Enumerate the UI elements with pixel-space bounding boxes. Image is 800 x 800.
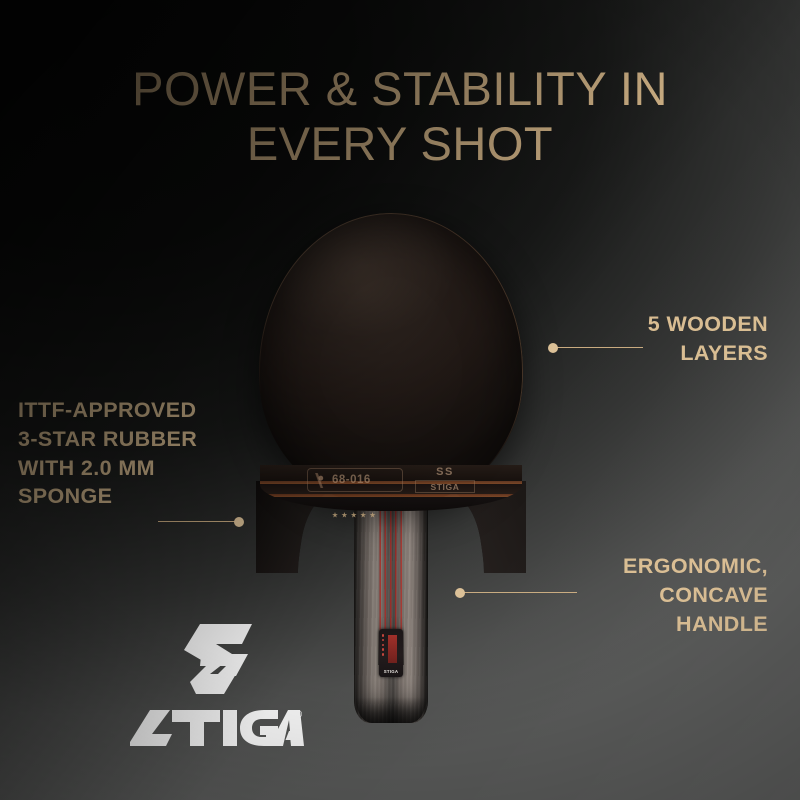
leader-line-layers — [548, 343, 643, 353]
callout-rubber-line-2: 3-STAR RUBBER — [18, 425, 197, 454]
handle-badge-brand: STIGA — [379, 669, 403, 674]
leader-line-rubber — [158, 517, 244, 527]
handle-brand-badge: STIGA — [379, 629, 403, 677]
leader-dot-rubber — [234, 517, 244, 527]
callout-handle-line-1: ERGONOMIC, — [623, 552, 768, 581]
callout-rubber-line-3: WITH 2.0 MM — [18, 454, 197, 483]
callout-layers-line-2: LAYERS — [648, 339, 768, 368]
leader-line-handle — [455, 588, 577, 598]
poster-background: POWER & STABILITY IN EVERY SHOT STIGA — [0, 0, 800, 800]
callout-layers-line-1: 5 WOODEN — [648, 310, 768, 339]
headline-line-2: EVERY SHOT — [0, 117, 800, 172]
ittf-logo-icon — [312, 473, 328, 488]
ittf-number: 68-016 — [332, 474, 371, 486]
blade-brand-label: STIGA — [415, 480, 475, 493]
callout-layers: 5 WOODEN LAYERS — [648, 310, 768, 368]
callout-rubber-line-1: ITTF-APPROVED — [18, 396, 197, 425]
star-rating — [332, 512, 376, 518]
paddle-blade-rubber — [259, 213, 523, 505]
ittf-approval-stamp: 68-016 — [307, 468, 403, 492]
registered-mark: ® — [294, 709, 302, 721]
handle-badge-stars — [382, 634, 385, 656]
paddle-handle: STIGA — [354, 489, 428, 723]
blade-brand-stamp: SS STIGA — [415, 467, 475, 493]
callout-handle-line-2: CONCAVE — [623, 581, 768, 610]
callout-handle-line-3: HANDLE — [623, 610, 768, 639]
handle-butt-shadow — [356, 697, 426, 723]
leader-dot-layers — [548, 343, 558, 353]
callout-handle: ERGONOMIC, CONCAVE HANDLE — [623, 552, 768, 638]
callout-rubber: ITTF-APPROVED 3-STAR RUBBER WITH 2.0 MM … — [18, 396, 197, 511]
brand-logo: ® — [126, 622, 306, 750]
leader-dot-handle — [455, 588, 465, 598]
headline-line-1: POWER & STABILITY IN — [0, 62, 800, 117]
stiga-hexagon-s-icon — [174, 622, 258, 698]
stiga-wordmark: ® — [128, 704, 304, 750]
blade-stamp-row: 68-016 SS STIGA — [307, 463, 475, 497]
blade-grade-label: SS — [415, 467, 475, 478]
handle-badge-red-panel — [388, 635, 397, 663]
page-title: POWER & STABILITY IN EVERY SHOT — [0, 62, 800, 172]
callout-rubber-line-4: SPONGE — [18, 482, 197, 511]
